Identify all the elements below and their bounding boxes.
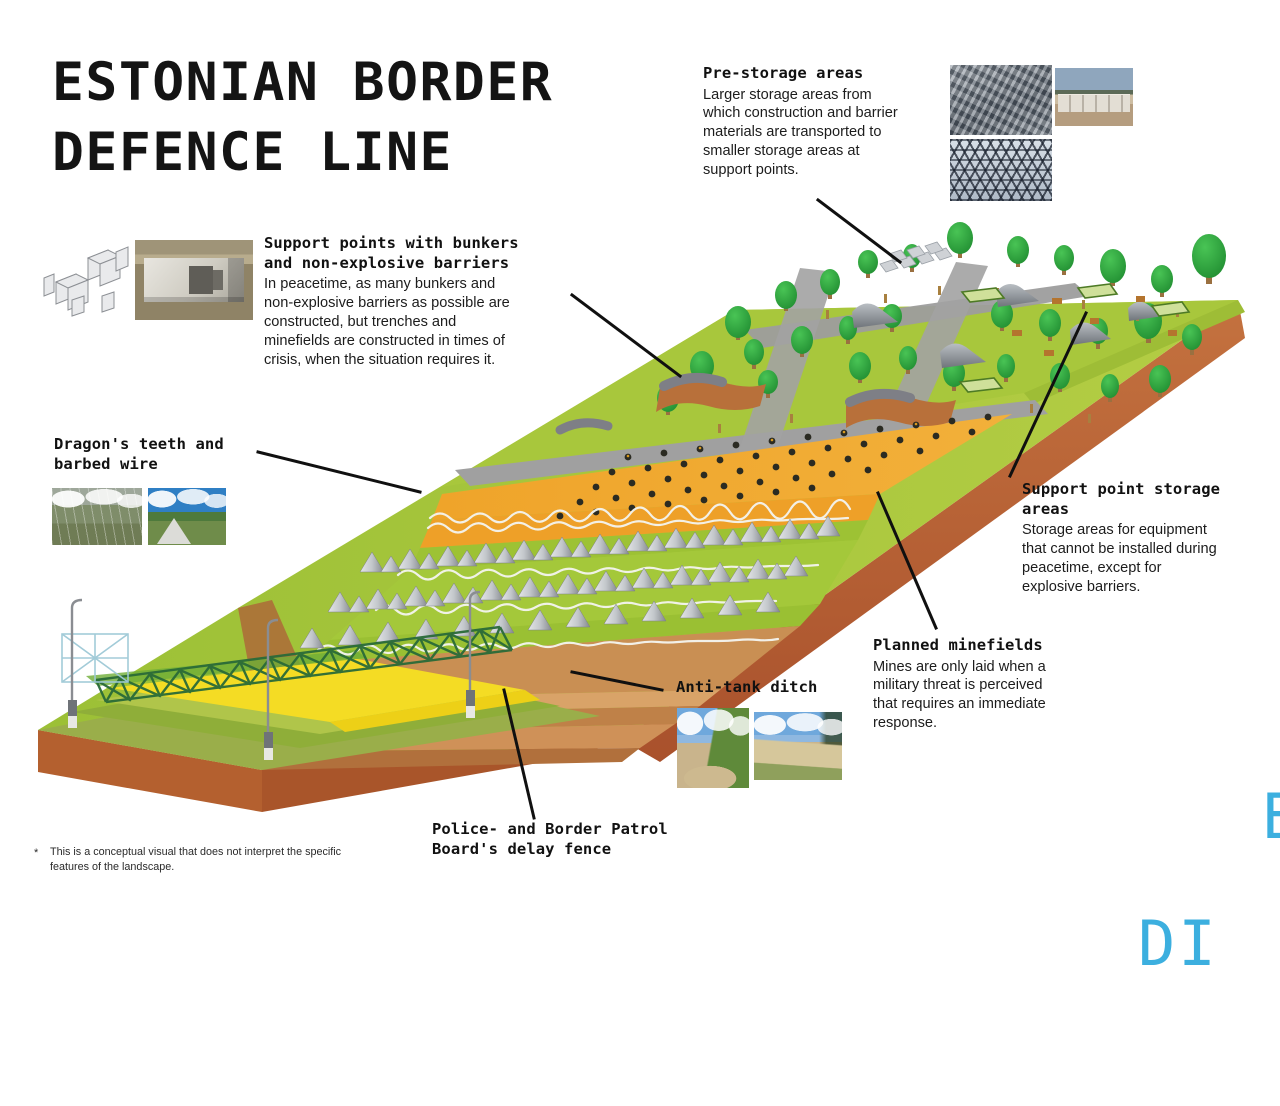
photo-dragons-teeth-landscape [148,488,226,545]
callout-support-points: Support points with bunkers and non-expl… [264,234,564,370]
callout-pre-storage-areas: Pre-storage areas Larger storage areas f… [703,64,943,180]
callout-planned-minefields: Planned minefields Mines are only laid w… [873,636,1113,733]
callout-delay-fence: Police- and Border Patrol Board's delay … [432,820,732,861]
photo-anti-tank-ditch-right [754,712,842,780]
ecdi-logo: EC DI [1100,722,1280,1101]
photo-anti-tank-ditch-left [677,708,749,788]
callout-anti-tank-ditch-heading: Anti-tank ditch [676,678,876,698]
ecdi-logo-line2: DI [1138,912,1280,975]
infographic-canvas: ESTONIAN BORDER DEFENCE LINE Pre-storage… [0,0,1280,905]
footnote-text: This is a conceptual visual that does no… [50,845,364,874]
callout-planned-minefields-body: Mines are only laid when a military thre… [873,658,1113,734]
footnote: * This is a conceptual visual that does … [34,845,364,874]
callout-support-points-body: In peacetime, as many bunkers and non-ex… [264,275,564,370]
callout-dragons-teeth: Dragon's teeth and barbed wire [54,435,284,476]
callout-pre-storage-heading: Pre-storage areas [703,64,943,84]
footnote-marker: * [34,846,38,861]
ecdi-logo-line1: EC [1261,780,1280,853]
callout-pre-storage-body: Larger storage areas from which construc… [703,86,943,181]
callout-planned-minefields-heading: Planned minefields [873,636,1113,656]
photo-soldier-barbed-wire-fence [52,488,142,545]
photo-concrete-barriers-ground [1055,68,1133,126]
callout-support-point-storage-body: Storage areas for equipment that cannot … [1022,521,1272,597]
callout-delay-fence-heading: Police- and Border Patrol Board's delay … [432,820,732,859]
callout-anti-tank-ditch: Anti-tank ditch [676,678,876,700]
callout-support-points-heading: Support points with bunkers and non-expl… [264,234,564,273]
callout-support-point-storage: Support point storage areas Storage area… [1022,480,1272,597]
diagram-bunker-modules-exploded [42,238,134,318]
photo-anti-tank-grid-array [950,139,1052,201]
callout-dragons-teeth-heading: Dragon's teeth and barbed wire [54,435,284,474]
photo-concrete-bunker-installed [135,240,253,320]
photo-concrete-blocks-aerial [950,65,1052,135]
page-title: ESTONIAN BORDER DEFENCE LINE [52,48,553,188]
callout-support-point-storage-heading: Support point storage areas [1022,480,1272,519]
